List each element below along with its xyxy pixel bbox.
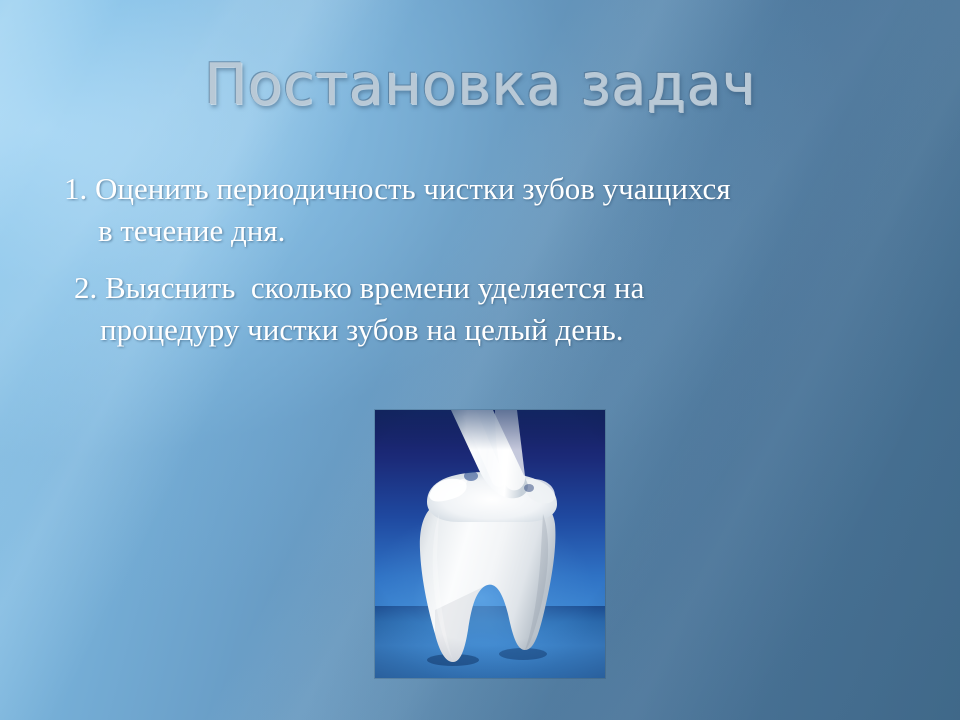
list-item-line-1: 1. Оценить периодичность чистки зубов уч… — [64, 168, 914, 210]
slide: Постановка задач 1. Оценить периодичност… — [0, 0, 960, 720]
list-item-line-1: 2. Выяснить сколько времени уделяется на — [64, 267, 914, 309]
list-item-line-2: в течение дня. — [64, 210, 914, 252]
photo-shading — [375, 410, 605, 678]
page-title: Постановка задач — [0, 52, 960, 118]
list-item: 1. Оценить периодичность чистки зубов уч… — [64, 168, 914, 251]
list-item: 2. Выяснить сколько времени уделяется на… — [64, 267, 914, 350]
tooth-image — [375, 410, 605, 678]
list-item-line-2: процедуру чистки зубов на целый день. — [64, 309, 914, 351]
task-list: 1. Оценить периодичность чистки зубов уч… — [64, 168, 914, 366]
